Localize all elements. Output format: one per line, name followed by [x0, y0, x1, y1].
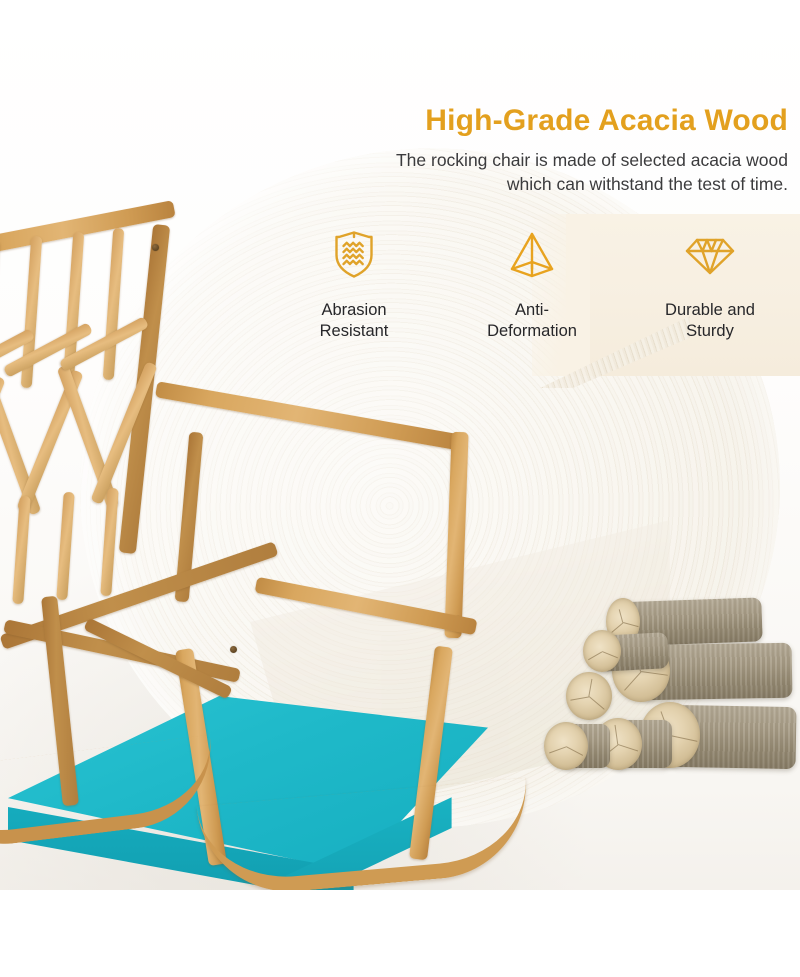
feature-item-abrasion-resistant: Abrasion Resistant — [272, 228, 436, 342]
feature-label: Durable and Sturdy — [665, 300, 755, 342]
feature-item-anti-deformation: Anti- Deformation — [450, 228, 614, 342]
armrest-front-post — [444, 432, 468, 638]
feature-label-line-1: Durable and — [665, 300, 755, 321]
feature-label-line-1: Abrasion — [320, 300, 389, 321]
log-end-grain — [544, 722, 588, 770]
feature-item-durable-sturdy: Durable and Sturdy — [628, 228, 792, 342]
footer-whitespace — [0, 890, 800, 977]
feature-label-line-2: Sturdy — [665, 321, 755, 342]
diamond-icon — [684, 228, 736, 280]
frame-screw — [152, 244, 159, 251]
backrest-slat — [100, 488, 119, 597]
feature-list: Abrasion Resistant Anti- Deformation — [272, 228, 792, 378]
subtitle-line-2: which can withstand the test of time. — [168, 172, 788, 196]
chair-leg-cross-brace — [83, 618, 233, 700]
backrest-slat — [103, 228, 125, 380]
subtitle-line-1: The rocking chair is made of selected ac… — [168, 148, 788, 172]
feature-label: Abrasion Resistant — [320, 300, 389, 342]
feature-label-line-2: Resistant — [320, 321, 389, 342]
firewood-log-stack — [540, 578, 800, 810]
log-end-grain — [583, 630, 621, 672]
backrest-top-rail — [0, 200, 176, 257]
frame-screw — [230, 646, 237, 653]
feature-label-line-2: Deformation — [487, 321, 577, 342]
log-end-grain — [566, 672, 612, 720]
feature-label-line-1: Anti- — [487, 300, 577, 321]
feature-label: Anti- Deformation — [487, 300, 577, 342]
pyramid-icon — [506, 228, 558, 280]
page-subtitle: The rocking chair is made of selected ac… — [168, 148, 788, 196]
shield-waves-icon — [328, 228, 380, 280]
page-title: High-Grade Acacia Wood — [188, 104, 788, 138]
seat-front-rail — [255, 577, 478, 635]
backrest-slat — [12, 496, 31, 605]
product-feature-banner: High-Grade Acacia Wood The rocking chair… — [0, 0, 800, 977]
backrest-slat — [56, 492, 75, 601]
seat-rear-rail — [3, 619, 241, 683]
